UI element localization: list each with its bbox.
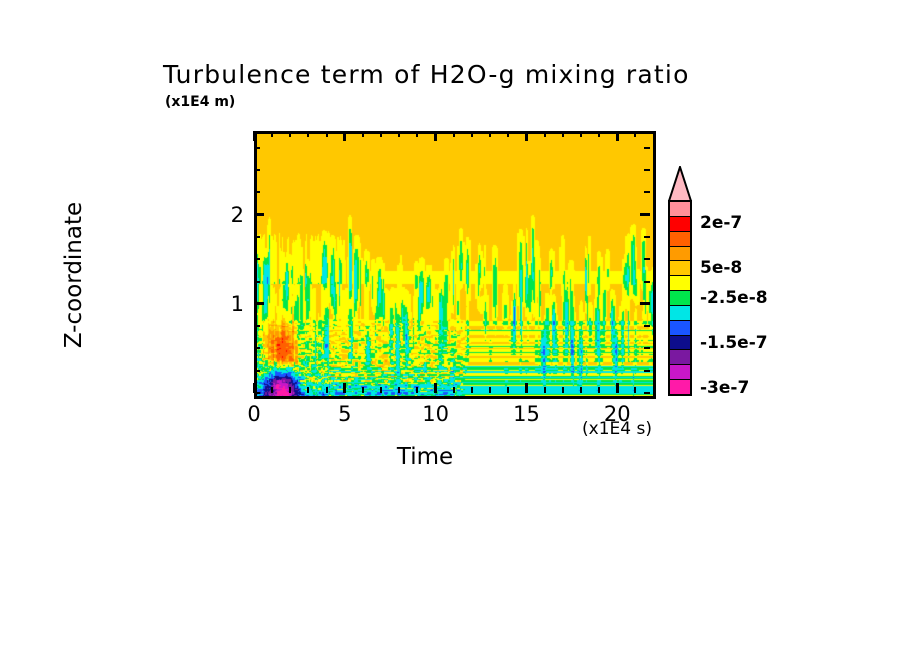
x-tick-minor [507, 387, 509, 393]
y-axis-label: Z-coordinate [61, 145, 87, 405]
x-tick-label: 15 [513, 402, 540, 426]
colorbar-band [670, 321, 690, 336]
page-title: Turbulence term of H2O-g mixing ratio [163, 60, 763, 89]
x-tick-major [525, 383, 528, 393]
x-tick-minor [598, 387, 600, 393]
x-tick-minor [271, 387, 273, 393]
y-tick-major-right [640, 213, 650, 216]
colorbar-tick-label: -1.5e-7 [700, 333, 768, 353]
x-tick-major [616, 383, 619, 393]
x-tick-minor-top [562, 131, 564, 137]
x-tick-minor-top [271, 131, 273, 137]
x-tick-minor-top [544, 131, 546, 137]
y-tick-minor-right [644, 236, 650, 238]
y-tick-minor [254, 258, 260, 260]
x-tick-minor-top [326, 131, 328, 137]
x-tick-minor-top [289, 131, 291, 137]
x-tick-minor [562, 387, 564, 393]
x-tick-minor [489, 387, 491, 393]
x-tick-minor-top [580, 131, 582, 137]
y-tick-minor [254, 370, 260, 372]
colorbar-tick-label: -3e-7 [700, 378, 749, 398]
x-tick-minor [380, 387, 382, 393]
x-tick-label: 10 [422, 402, 449, 426]
colorbar-band [670, 217, 690, 232]
colorbar-arrow-icon [668, 166, 692, 202]
x-tick-minor [634, 387, 636, 393]
x-tick-minor [289, 387, 291, 393]
y-tick-minor-right [644, 325, 650, 327]
figure-canvas: Turbulence term of H2O-g mixing ratio (x… [0, 0, 904, 654]
y-tick-minor [254, 347, 260, 349]
y-tick-minor [254, 392, 260, 394]
colorbar-band [670, 202, 690, 217]
x-tick-major [434, 383, 437, 393]
y-tick-minor [254, 147, 260, 149]
x-tick-minor [326, 387, 328, 393]
x-tick-major-top [616, 131, 619, 141]
colorbar-band [670, 380, 690, 394]
x-tick-minor [471, 387, 473, 393]
y-tick-minor-right [644, 191, 650, 193]
y-tick-minor [254, 236, 260, 238]
y-tick-minor [254, 325, 260, 327]
y-tick-label: 1 [212, 292, 244, 316]
y-tick-label: 2 [212, 203, 244, 227]
x-tick-minor [580, 387, 582, 393]
x-tick-minor-top [453, 131, 455, 137]
x-axis-label: Time [397, 444, 453, 470]
x-tick-minor-top [398, 131, 400, 137]
colorbar-band [670, 350, 690, 365]
x-tick-major [343, 383, 346, 393]
colorbar [668, 200, 692, 396]
colorbar-band [670, 306, 690, 321]
colorbar-tick-label: 5e-8 [700, 258, 742, 278]
x-tick-major-top [525, 131, 528, 141]
x-tick-minor-top [598, 131, 600, 137]
x-tick-label: 5 [338, 402, 351, 426]
x-tick-minor [362, 387, 364, 393]
x-tick-minor-top [362, 131, 364, 137]
colorbar-band [670, 276, 690, 291]
y-tick-minor-right [644, 281, 650, 283]
y-tick-minor [254, 169, 260, 171]
y-tick-major-right [640, 302, 650, 305]
colorbar-band [670, 365, 690, 380]
colorbar-band [670, 336, 690, 351]
y-tick-major [254, 213, 264, 216]
x-tick-minor [453, 387, 455, 393]
colorbar-band [670, 247, 690, 262]
x-tick-minor-top [489, 131, 491, 137]
y-tick-minor [254, 191, 260, 193]
x-tick-minor-top [380, 131, 382, 137]
x-tick-minor [416, 387, 418, 393]
x-tick-minor-top [416, 131, 418, 137]
colorbar-band [670, 232, 690, 247]
colorbar-band [670, 261, 690, 276]
y-tick-minor-right [644, 392, 650, 394]
y-tick-minor-right [644, 147, 650, 149]
y-tick-major [254, 302, 264, 305]
x-tick-minor-top [307, 131, 309, 137]
x-tick-minor [307, 387, 309, 393]
x-tick-minor-top [471, 131, 473, 137]
x-tick-minor-top [507, 131, 509, 137]
colorbar-tick-label: 2e-7 [700, 213, 742, 233]
plot-area [254, 131, 656, 399]
x-tick-major-top [253, 131, 256, 141]
x-tick-minor [544, 387, 546, 393]
x-tick-label: 0 [247, 402, 260, 426]
y-tick-minor-right [644, 347, 650, 349]
x-tick-minor-top [634, 131, 636, 137]
y-tick-minor-right [644, 169, 650, 171]
x-axis-units-label: (x1E4 s) [582, 419, 652, 439]
y-axis-units-label: (x1E4 m) [165, 94, 235, 110]
y-tick-minor-right [644, 258, 650, 260]
y-tick-minor-right [644, 370, 650, 372]
x-tick-major-top [434, 131, 437, 141]
heatmap-field [257, 134, 653, 396]
x-tick-minor [398, 387, 400, 393]
colorbar-tick-label: -2.5e-8 [700, 288, 768, 308]
y-tick-minor [254, 281, 260, 283]
colorbar-band [670, 291, 690, 306]
x-tick-major-top [343, 131, 346, 141]
